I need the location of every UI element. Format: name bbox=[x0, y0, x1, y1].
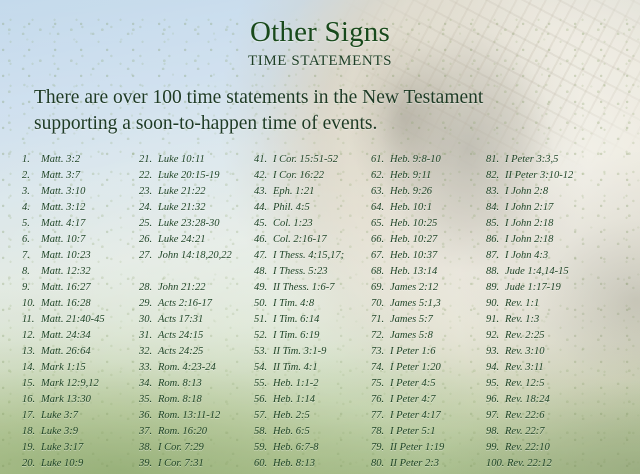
reference-item: 88.Jude 1:4,14-15 bbox=[486, 264, 626, 280]
reference-number: 48. bbox=[254, 264, 273, 280]
reference-item: 50.I Tim. 4:8 bbox=[254, 296, 374, 312]
reference-number: 2. bbox=[22, 168, 41, 184]
reference-item: 15.Mark 12:9,12 bbox=[22, 376, 134, 392]
reference-number: 23. bbox=[139, 184, 158, 200]
reference-item: 76.I Peter 4:7 bbox=[371, 392, 483, 408]
reference-number: 30. bbox=[139, 312, 158, 328]
reference-number: 20. bbox=[22, 456, 41, 472]
reference-citation: Rev. 1:3 bbox=[505, 314, 539, 325]
reference-item: 71.James 5:7 bbox=[371, 312, 483, 328]
reference-column-3: 41.I Cor. 15:51-5242.I Cor. 16:2243.Eph.… bbox=[254, 152, 374, 472]
reference-number: 53. bbox=[254, 344, 273, 360]
reference-item: 46.Col. 2:16-17 bbox=[254, 232, 374, 248]
reference-citation: Matt. 16:28 bbox=[41, 298, 91, 309]
reference-number: 87. bbox=[486, 248, 505, 264]
reference-item: 61.Heb. 9:8-10 bbox=[371, 152, 483, 168]
reference-item: 75.I Peter 4:5 bbox=[371, 376, 483, 392]
reference-number: 55. bbox=[254, 376, 273, 392]
reference-citation: I Peter 1:6 bbox=[390, 346, 435, 357]
reference-citation: John 14:18,20,22 bbox=[158, 250, 232, 261]
reference-number: 74. bbox=[371, 360, 390, 376]
reference-number: 36. bbox=[139, 408, 158, 424]
reference-number: 76. bbox=[371, 392, 390, 408]
reference-number: 19. bbox=[22, 440, 41, 456]
reference-citation: Heb. 2:5 bbox=[273, 410, 310, 421]
reference-citation: I Cor. 16:22 bbox=[273, 170, 324, 181]
reference-item: 60.Heb. 8:13 bbox=[254, 456, 374, 472]
reference-number: 29. bbox=[139, 296, 158, 312]
reference-number: 49. bbox=[254, 280, 273, 296]
reference-item: 63.Heb. 9:26 bbox=[371, 184, 483, 200]
reference-citation: I John 2:18 bbox=[505, 234, 553, 245]
reference-citation: Rom. 8:18 bbox=[158, 394, 202, 405]
reference-citation: Acts 24:25 bbox=[158, 346, 203, 357]
reference-item: 28.John 21:22 bbox=[139, 280, 251, 296]
reference-citation: Rev. 22:7 bbox=[505, 426, 544, 437]
reference-item: 19.Luke 3:17 bbox=[22, 440, 134, 456]
reference-item: 20.Luke 10:9 bbox=[22, 456, 134, 472]
reference-citation: Matt. 16:27 bbox=[41, 282, 91, 293]
reference-citation: Rev. 2:25 bbox=[505, 330, 544, 341]
reference-number: 33. bbox=[139, 360, 158, 376]
reference-citation: John 21:22 bbox=[158, 282, 206, 293]
reference-item: 7.Matt. 10:23 bbox=[22, 248, 134, 264]
reference-item: 17.Luke 3:7 bbox=[22, 408, 134, 424]
reference-item: 58.Heb. 6:5 bbox=[254, 424, 374, 440]
reference-citation: Luke 20:15-19 bbox=[158, 170, 220, 181]
reference-item: 10.Matt. 16:28 bbox=[22, 296, 134, 312]
reference-item: 29.Acts 2:16-17 bbox=[139, 296, 251, 312]
reference-item: 90.Rev. 1:1 bbox=[486, 296, 626, 312]
reference-citation: James 5:8 bbox=[390, 330, 433, 341]
reference-item: 59.Heb. 6:7-8 bbox=[254, 440, 374, 456]
reference-item: 80.II Peter 2:3 bbox=[371, 456, 483, 472]
reference-item: 97.Rev. 22:6 bbox=[486, 408, 626, 424]
reference-citation: Rev. 3:10 bbox=[505, 346, 544, 357]
reference-citation: I Peter 1:20 bbox=[390, 362, 441, 373]
reference-item: 62.Heb. 9:11 bbox=[371, 168, 483, 184]
reference-item: 72.James 5:8 bbox=[371, 328, 483, 344]
reference-citation: Luke 21:32 bbox=[158, 202, 206, 213]
reference-number: 28. bbox=[139, 280, 158, 296]
reference-citation: Luke 21:22 bbox=[158, 186, 206, 197]
reference-citation: Rev. 3:11 bbox=[505, 362, 544, 373]
reference-citation: I Thess. 5:23 bbox=[273, 266, 328, 277]
reference-citation: Luke 24:21 bbox=[158, 234, 206, 245]
reference-citation: I John 2:18 bbox=[505, 218, 553, 229]
reference-item: 18.Luke 3:9 bbox=[22, 424, 134, 440]
reference-citation: I John 2:17 bbox=[505, 202, 553, 213]
reference-number: 7. bbox=[22, 248, 41, 264]
reference-column-4: 61.Heb. 9:8-1062.Heb. 9:1163.Heb. 9:2664… bbox=[371, 152, 483, 472]
reference-number: 77. bbox=[371, 408, 390, 424]
reference-item: 32.Acts 24:25 bbox=[139, 344, 251, 360]
reference-number: 92. bbox=[486, 328, 505, 344]
reference-item: 8.Matt. 12:32 bbox=[22, 264, 134, 280]
reference-item: 2.Matt. 3:7 bbox=[22, 168, 134, 184]
reference-number: 25. bbox=[139, 216, 158, 232]
reference-citation: Heb. 9:11 bbox=[390, 170, 431, 181]
reference-number: 1. bbox=[22, 152, 41, 168]
reference-item: 53.II Tim. 3:1-9 bbox=[254, 344, 374, 360]
reference-number: 65. bbox=[371, 216, 390, 232]
reference-item: 79.II Peter 1:19 bbox=[371, 440, 483, 456]
reference-item: 99.Rev. 22:10 bbox=[486, 440, 626, 456]
reference-item: 83.I John 2:8 bbox=[486, 184, 626, 200]
reference-number: 60. bbox=[254, 456, 273, 472]
reference-citation: James 2:12 bbox=[390, 282, 438, 293]
reference-number: 81. bbox=[486, 152, 505, 168]
reference-citation: I Peter 4:5 bbox=[390, 378, 435, 389]
reference-item: 78.I Peter 5:1 bbox=[371, 424, 483, 440]
reference-item: 91.Rev. 1:3 bbox=[486, 312, 626, 328]
reference-item: 93.Rev. 3:10 bbox=[486, 344, 626, 360]
reference-number: 8. bbox=[22, 264, 41, 280]
reference-number: 21. bbox=[139, 152, 158, 168]
reference-item: 35.Rom. 8:18 bbox=[139, 392, 251, 408]
reference-number: 80. bbox=[371, 456, 390, 472]
reference-citation: Luke 3:17 bbox=[41, 442, 83, 453]
reference-number: 4. bbox=[22, 200, 41, 216]
reference-number: 72. bbox=[371, 328, 390, 344]
reference-item: 41.I Cor. 15:51-52 bbox=[254, 152, 374, 168]
reference-item: 39.I Cor. 7:31 bbox=[139, 456, 251, 472]
scripture-reference-columns: 1.Matt. 3:22.Matt. 3:73.Matt. 3:104.Matt… bbox=[0, 152, 640, 474]
reference-citation: Rom. 16:20 bbox=[158, 426, 207, 437]
reference-citation: Matt. 4:17 bbox=[41, 218, 85, 229]
reference-citation: I Cor. 7:31 bbox=[158, 458, 204, 469]
reference-item: 14.Mark 1:15 bbox=[22, 360, 134, 376]
reference-number: 52. bbox=[254, 328, 273, 344]
reference-number: 71. bbox=[371, 312, 390, 328]
reference-citation: Mark 12:9,12 bbox=[41, 378, 99, 389]
reference-citation: Rev. 22:10 bbox=[505, 442, 550, 453]
reference-item: 25.Luke 23:28-30 bbox=[139, 216, 251, 232]
reference-item: 4.Matt. 3:12 bbox=[22, 200, 134, 216]
reference-item: 96.Rev. 18:24 bbox=[486, 392, 626, 408]
reference-item: 36.Rom. 13:11-12 bbox=[139, 408, 251, 424]
reference-number: 44. bbox=[254, 200, 273, 216]
reference-item: 44.Phil. 4:5 bbox=[254, 200, 374, 216]
reference-citation: Matt. 3:12 bbox=[41, 202, 85, 213]
reference-number: 95. bbox=[486, 376, 505, 392]
reference-item: 47.I Thess. 4:15,17; bbox=[254, 248, 374, 264]
reference-number: 32. bbox=[139, 344, 158, 360]
reference-citation: II Peter 2:3 bbox=[390, 458, 439, 469]
reference-number: 61. bbox=[371, 152, 390, 168]
reference-citation: Phil. 4:5 bbox=[273, 202, 310, 213]
reference-item: 12.Matt. 24:34 bbox=[22, 328, 134, 344]
reference-item: 51.I Tim. 6:14 bbox=[254, 312, 374, 328]
reference-citation: Luke 3:7 bbox=[41, 410, 78, 421]
slide-content: Other Signs TIME STATEMENTS There are ov… bbox=[0, 0, 640, 474]
reference-item: 27.John 14:18,20,22 bbox=[139, 248, 251, 264]
reference-item: 30.Acts 17:31 bbox=[139, 312, 251, 328]
reference-citation: I Tim. 6:19 bbox=[273, 330, 319, 341]
reference-citation: Heb. 10:25 bbox=[390, 218, 437, 229]
reference-number: 37. bbox=[139, 424, 158, 440]
slide-title: Other Signs bbox=[0, 17, 640, 47]
reference-number: 3. bbox=[22, 184, 41, 200]
reference-item: 69.James 2:12 bbox=[371, 280, 483, 296]
reference-citation: Rev. 1:1 bbox=[505, 298, 539, 309]
reference-citation: Matt. 12:32 bbox=[41, 266, 91, 277]
reference-citation: Matt. 3:7 bbox=[41, 170, 80, 181]
reference-number: 9. bbox=[22, 280, 41, 296]
reference-number: 35. bbox=[139, 392, 158, 408]
reference-item: 52.I Tim. 6:19 bbox=[254, 328, 374, 344]
reference-number: 27. bbox=[139, 248, 158, 264]
reference-item: 86.I John 2:18 bbox=[486, 232, 626, 248]
reference-item: 45.Col. 1:23 bbox=[254, 216, 374, 232]
reference-number: 42. bbox=[254, 168, 273, 184]
reference-citation: Matt. 21:40-45 bbox=[41, 314, 105, 325]
reference-item: 70.James 5:1,3 bbox=[371, 296, 483, 312]
reference-number: 64. bbox=[371, 200, 390, 216]
reference-number: 100. bbox=[486, 456, 507, 472]
reference-number: 62. bbox=[371, 168, 390, 184]
reference-citation: Rev. 22:6 bbox=[505, 410, 544, 421]
reference-number: 88. bbox=[486, 264, 505, 280]
reference-citation: Rom. 13:11-12 bbox=[158, 410, 220, 421]
reference-citation: I Peter 4:7 bbox=[390, 394, 435, 405]
reference-citation: Matt. 10:23 bbox=[41, 250, 91, 261]
reference-citation: James 5:7 bbox=[390, 314, 433, 325]
reference-item: 3.Matt. 3:10 bbox=[22, 184, 134, 200]
reference-citation: Acts 2:16-17 bbox=[158, 298, 212, 309]
reference-number: 89. bbox=[486, 280, 505, 296]
reference-number: 15. bbox=[22, 376, 41, 392]
reference-citation: Matt. 26:64 bbox=[41, 346, 91, 357]
reference-item: 68.Heb. 13:14 bbox=[371, 264, 483, 280]
reference-citation: Luke 3:9 bbox=[41, 426, 78, 437]
reference-item: 94.Rev. 3:11 bbox=[486, 360, 626, 376]
reference-column-1: 1.Matt. 3:22.Matt. 3:73.Matt. 3:104.Matt… bbox=[22, 152, 134, 472]
reference-number: 66. bbox=[371, 232, 390, 248]
reference-number: 54. bbox=[254, 360, 273, 376]
reference-item: 49.II Thess. 1:6-7 bbox=[254, 280, 374, 296]
reference-item: 73.I Peter 1:6 bbox=[371, 344, 483, 360]
reference-citation: Mark 13:30 bbox=[41, 394, 91, 405]
reference-number: 96. bbox=[486, 392, 505, 408]
reference-item: 65.Heb. 10:25 bbox=[371, 216, 483, 232]
reference-number: 50. bbox=[254, 296, 273, 312]
reference-item: 9.Matt. 16:27 bbox=[22, 280, 134, 296]
reference-citation: I Tim. 4:8 bbox=[273, 298, 314, 309]
reference-citation: II Tim. 3:1-9 bbox=[273, 346, 326, 357]
reference-citation: Heb. 10:37 bbox=[390, 250, 437, 261]
reference-item: 1.Matt. 3:2 bbox=[22, 152, 134, 168]
reference-number: 57. bbox=[254, 408, 273, 424]
reference-number: 91. bbox=[486, 312, 505, 328]
reference-citation: Luke 10:11 bbox=[158, 154, 205, 165]
reference-citation: I Thess. 4:15,17; bbox=[273, 250, 344, 261]
reference-citation: I Peter 5:1 bbox=[390, 426, 435, 437]
reference-item: 89.Jude 1:17-19 bbox=[486, 280, 626, 296]
reference-citation: Matt. 3:10 bbox=[41, 186, 85, 197]
reference-citation: Rom. 8:13 bbox=[158, 378, 202, 389]
reference-column-2: 21.Luke 10:1122.Luke 20:15-1923.Luke 21:… bbox=[139, 152, 251, 474]
reference-number: 90. bbox=[486, 296, 505, 312]
reference-item: 64.Heb. 10:1 bbox=[371, 200, 483, 216]
reference-item: 55.Heb. 1:1-2 bbox=[254, 376, 374, 392]
reference-number: 68. bbox=[371, 264, 390, 280]
reference-citation: Luke 10:9 bbox=[41, 458, 83, 469]
reference-citation: Rom. 4:23-24 bbox=[158, 362, 216, 373]
reference-number: 38. bbox=[139, 440, 158, 456]
reference-number: 12. bbox=[22, 328, 41, 344]
reference-citation: I John 2:8 bbox=[505, 186, 548, 197]
reference-citation: Matt. 3:2 bbox=[41, 154, 80, 165]
reference-item: 5.Matt. 4:17 bbox=[22, 216, 134, 232]
reference-number: 31. bbox=[139, 328, 158, 344]
reference-citation: I John 4:3 bbox=[505, 250, 548, 261]
reference-citation: Rev. 22:12 bbox=[507, 458, 552, 469]
reference-item: 26.Luke 24:21 bbox=[139, 232, 251, 248]
reference-citation: Eph. 1:21 bbox=[273, 186, 314, 197]
reference-citation: I Peter 3:3,5 bbox=[505, 154, 558, 165]
reference-item: 22.Luke 20:15-19 bbox=[139, 168, 251, 184]
reference-item: 16.Mark 13:30 bbox=[22, 392, 134, 408]
reference-citation: Matt. 10:7 bbox=[41, 234, 85, 245]
reference-number: 17. bbox=[22, 408, 41, 424]
reference-item: 24.Luke 21:32 bbox=[139, 200, 251, 216]
reference-citation: Heb. 1:14 bbox=[273, 394, 315, 405]
reference-item: 92.Rev. 2:25 bbox=[486, 328, 626, 344]
reference-item: 33.Rom. 4:23-24 bbox=[139, 360, 251, 376]
reference-number: 83. bbox=[486, 184, 505, 200]
reference-citation: I Cor. 7:29 bbox=[158, 442, 204, 453]
reference-number: 47. bbox=[254, 248, 273, 264]
reference-citation: I Tim. 6:14 bbox=[273, 314, 319, 325]
reference-number: 67. bbox=[371, 248, 390, 264]
reference-number: 85. bbox=[486, 216, 505, 232]
reference-number: 41. bbox=[254, 152, 273, 168]
reference-citation: Heb. 13:14 bbox=[390, 266, 437, 277]
reference-number: 45. bbox=[254, 216, 273, 232]
reference-citation: Heb. 10:27 bbox=[390, 234, 437, 245]
reference-item: 31.Acts 24:15 bbox=[139, 328, 251, 344]
reference-number: 70. bbox=[371, 296, 390, 312]
reference-number: 94. bbox=[486, 360, 505, 376]
reference-number: 73. bbox=[371, 344, 390, 360]
reference-citation: Heb. 6:7-8 bbox=[273, 442, 319, 453]
reference-number: 56. bbox=[254, 392, 273, 408]
reference-number: 22. bbox=[139, 168, 158, 184]
reference-number: 14. bbox=[22, 360, 41, 376]
reference-citation: Rev. 12:5 bbox=[505, 378, 544, 389]
reference-item: 66.Heb. 10:27 bbox=[371, 232, 483, 248]
reference-item: 23.Luke 21:22 bbox=[139, 184, 251, 200]
reference-item: 77.I Peter 4:17 bbox=[371, 408, 483, 424]
reference-item: 74.I Peter 1:20 bbox=[371, 360, 483, 376]
reference-number: 24. bbox=[139, 200, 158, 216]
reference-item: 57.Heb. 2:5 bbox=[254, 408, 374, 424]
reference-number: 18. bbox=[22, 424, 41, 440]
reference-number: 79. bbox=[371, 440, 390, 456]
slide-lede: There are over 100 time statements in th… bbox=[24, 85, 616, 136]
reference-citation: Heb. 9:8-10 bbox=[390, 154, 441, 165]
lede-line-2: supporting a soon-to-happen time of even… bbox=[24, 111, 616, 137]
reference-item: 87.I John 4:3 bbox=[486, 248, 626, 264]
reference-citation: Heb. 9:26 bbox=[390, 186, 432, 197]
reference-item: 37.Rom. 16:20 bbox=[139, 424, 251, 440]
reference-number: 97. bbox=[486, 408, 505, 424]
reference-item: 81.I Peter 3:3,5 bbox=[486, 152, 626, 168]
reference-citation: II Peter 3:10-12 bbox=[505, 170, 573, 181]
reference-item: 43.Eph. 1:21 bbox=[254, 184, 374, 200]
reference-number: 84. bbox=[486, 200, 505, 216]
reference-citation: Luke 23:28-30 bbox=[158, 218, 220, 229]
reference-item: 11.Matt. 21:40-45 bbox=[22, 312, 134, 328]
slide-root: Other Signs TIME STATEMENTS There are ov… bbox=[0, 0, 640, 474]
reference-citation: Jude 1:4,14-15 bbox=[505, 266, 569, 277]
reference-number: 98. bbox=[486, 424, 505, 440]
reference-citation: I Cor. 15:51-52 bbox=[273, 154, 338, 165]
reference-number: 10. bbox=[22, 296, 41, 312]
reference-number: 6. bbox=[22, 232, 41, 248]
reference-citation: Col. 2:16-17 bbox=[273, 234, 327, 245]
reference-citation: Acts 24:15 bbox=[158, 330, 203, 341]
reference-number: 51. bbox=[254, 312, 273, 328]
reference-citation: Jude 1:17-19 bbox=[505, 282, 561, 293]
reference-number: 75. bbox=[371, 376, 390, 392]
reference-number: 5. bbox=[22, 216, 41, 232]
reference-number: 82. bbox=[486, 168, 505, 184]
reference-citation: Rev. 18:24 bbox=[505, 394, 550, 405]
reference-item: 34.Rom. 8:13 bbox=[139, 376, 251, 392]
reference-number: 26. bbox=[139, 232, 158, 248]
reference-number: 99. bbox=[486, 440, 505, 456]
reference-citation: Matt. 24:34 bbox=[41, 330, 91, 341]
reference-item: 6.Matt. 10:7 bbox=[22, 232, 134, 248]
reference-column-5: 81.I Peter 3:3,582.II Peter 3:10-1283.I … bbox=[486, 152, 626, 474]
reference-item: 67.Heb. 10:37 bbox=[371, 248, 483, 264]
reference-item: 98.Rev. 22:7 bbox=[486, 424, 626, 440]
reference-number: 16. bbox=[22, 392, 41, 408]
reference-number: 69. bbox=[371, 280, 390, 296]
reference-number: 86. bbox=[486, 232, 505, 248]
reference-item: 13.Matt. 26:64 bbox=[22, 344, 134, 360]
lede-line-1: There are over 100 time statements in th… bbox=[24, 85, 616, 111]
reference-citation: Heb. 1:1-2 bbox=[273, 378, 319, 389]
reference-item: 38.I Cor. 7:29 bbox=[139, 440, 251, 456]
reference-number: 34. bbox=[139, 376, 158, 392]
reference-citation: Acts 17:31 bbox=[158, 314, 203, 325]
reference-number: 13. bbox=[22, 344, 41, 360]
reference-citation: I Peter 4:17 bbox=[390, 410, 441, 421]
reference-item: 42.I Cor. 16:22 bbox=[254, 168, 374, 184]
reference-citation: Heb. 10:1 bbox=[390, 202, 432, 213]
reference-item: 21.Luke 10:11 bbox=[139, 152, 251, 168]
reference-item: 84.I John 2:17 bbox=[486, 200, 626, 216]
reference-citation: Col. 1:23 bbox=[273, 218, 313, 229]
reference-citation: Heb. 8:13 bbox=[273, 458, 315, 469]
reference-number: 63. bbox=[371, 184, 390, 200]
reference-number: 59. bbox=[254, 440, 273, 456]
reference-item: 82.II Peter 3:10-12 bbox=[486, 168, 626, 184]
reference-number: 39. bbox=[139, 456, 158, 472]
reference-citation: James 5:1,3 bbox=[390, 298, 441, 309]
reference-item: 95.Rev. 12:5 bbox=[486, 376, 626, 392]
reference-number: 58. bbox=[254, 424, 273, 440]
reference-citation: Mark 1:15 bbox=[41, 362, 86, 373]
reference-item: 85.I John 2:18 bbox=[486, 216, 626, 232]
reference-citation: II Tim. 4:1 bbox=[273, 362, 318, 373]
slide-subtitle: TIME STATEMENTS bbox=[0, 53, 640, 70]
reference-item: 56.Heb. 1:14 bbox=[254, 392, 374, 408]
reference-number: 46. bbox=[254, 232, 273, 248]
